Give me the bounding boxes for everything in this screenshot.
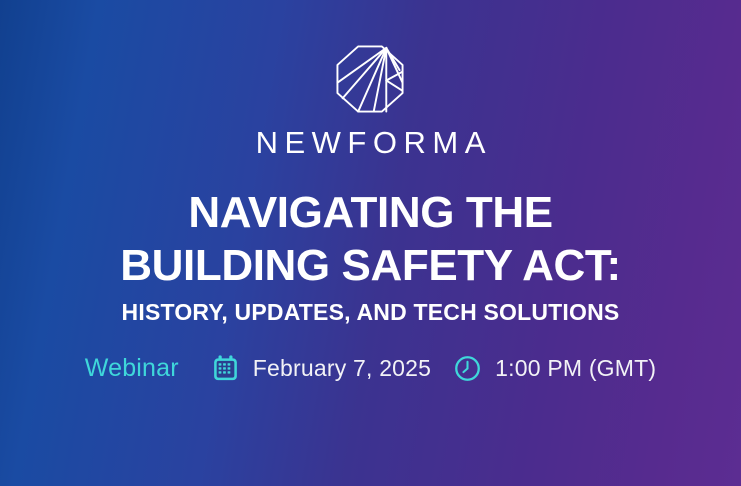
calendar-icon [211, 354, 240, 383]
headline-line-2: BUILDING SAFETY ACT: [120, 239, 620, 292]
webinar-promo-banner: NEWFORMA NAVIGATING THE BUILDING SAFETY … [0, 0, 741, 486]
clock-icon [453, 354, 482, 383]
page-subtitle: HISTORY, UPDATES, AND TECH SOLUTIONS [122, 301, 620, 324]
event-time-group: 1:00 PM (GMT) [453, 354, 656, 383]
event-details-bar: Webinar [85, 354, 656, 383]
brand-wordmark: NEWFORMA [249, 127, 492, 158]
event-date-text: February 7, 2025 [253, 357, 431, 380]
event-type-label: Webinar [85, 356, 179, 381]
newforma-octagon-logo-icon [333, 42, 407, 116]
headline-line-1: NAVIGATING THE [120, 186, 620, 239]
event-time-text: 1:00 PM (GMT) [495, 357, 656, 380]
page-title: NAVIGATING THE BUILDING SAFETY ACT: [120, 186, 620, 292]
brand-logo-block: NEWFORMA [249, 42, 492, 158]
event-date-group: February 7, 2025 [211, 354, 431, 383]
